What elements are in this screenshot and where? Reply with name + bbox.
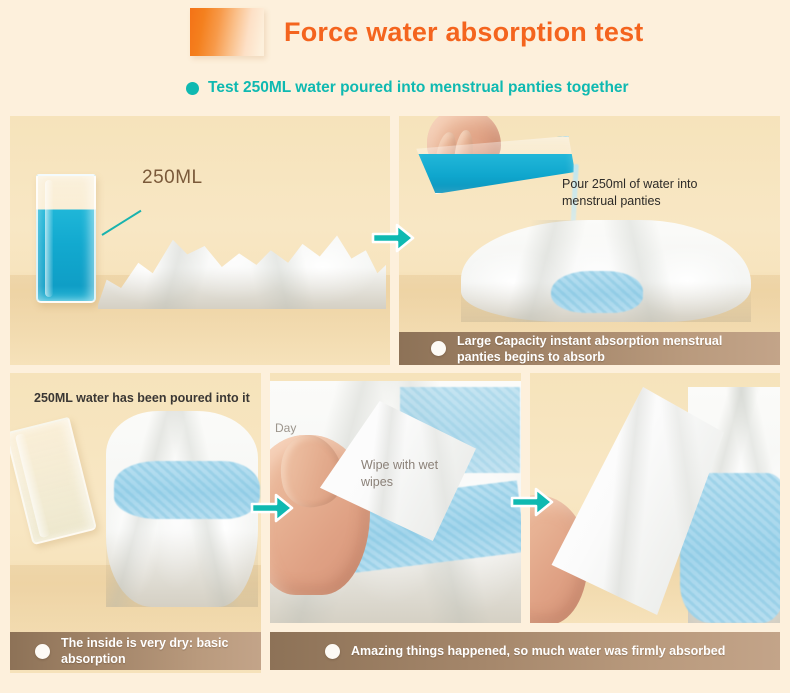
annotation-day: Day <box>275 421 296 437</box>
caption-bar-row1-right: Large Capacity instant absorption menstr… <box>399 332 780 365</box>
panel-pouring-water: Pour 250ml of water into menstrual panti… <box>399 116 780 365</box>
annotation-poured: 250ML water has been poured into it <box>34 390 250 407</box>
absorbent-core <box>551 271 643 313</box>
caption-row: The inside is very dry: basic absorption… <box>10 632 780 670</box>
caption-dot-icon <box>325 644 340 659</box>
glass-of-blue-water <box>36 174 96 303</box>
glass-highlight <box>45 180 53 298</box>
arrow-right-icon <box>371 221 415 255</box>
bullet-dot-icon <box>186 82 199 95</box>
caption-dot-icon <box>431 341 446 356</box>
arrow-right-icon <box>250 491 294 525</box>
caption-text: Large Capacity instant absorption menstr… <box>457 333 722 365</box>
page-header: Force water absorption test Test 250ML w… <box>0 0 790 112</box>
panel-row-2: 250ML water has been poured into it Day … <box>10 373 780 673</box>
panel-row-1: 250ML Pour 250ml of water into menstrual… <box>10 116 780 365</box>
orange-gradient-block-icon <box>190 8 264 56</box>
caption-text: Amazing things happened, so much water w… <box>351 643 725 659</box>
caption-bar-row2-right: Amazing things happened, so much water w… <box>270 632 780 670</box>
title-row: Force water absorption test <box>190 8 643 56</box>
annotation-250ml: 250ML <box>142 165 203 190</box>
product-infographic: Force water absorption test Test 250ML w… <box>0 0 790 693</box>
annotation-pour-instruction: Pour 250ml of water into menstrual panti… <box>562 176 698 209</box>
caption-text: The inside is very dry: basic absorption <box>61 635 228 667</box>
panel-clean-wipe-result <box>530 373 780 623</box>
panel-water-glass-and-panties: 250ML <box>10 116 390 365</box>
caption-dot-icon <box>35 644 50 659</box>
panel-water-poured-result: 250ML water has been poured into it <box>10 373 261 673</box>
page-title: Force water absorption test <box>284 19 643 46</box>
caption-bar-row2-left: The inside is very dry: basic absorption <box>10 632 261 670</box>
subtitle-row: Test 250ML water poured into menstrual p… <box>186 79 629 97</box>
absorbent-core <box>114 461 260 519</box>
arrow-right-icon <box>510 485 554 519</box>
page-subtitle: Test 250ML water poured into menstrual p… <box>208 79 629 97</box>
panel-wipe-test: Day Wipe with wet wipes <box>270 373 521 623</box>
annotation-wipe: Wipe with wet wipes <box>361 457 438 490</box>
panel-grid: 250ML Pour 250ml of water into menstrual… <box>10 116 780 673</box>
